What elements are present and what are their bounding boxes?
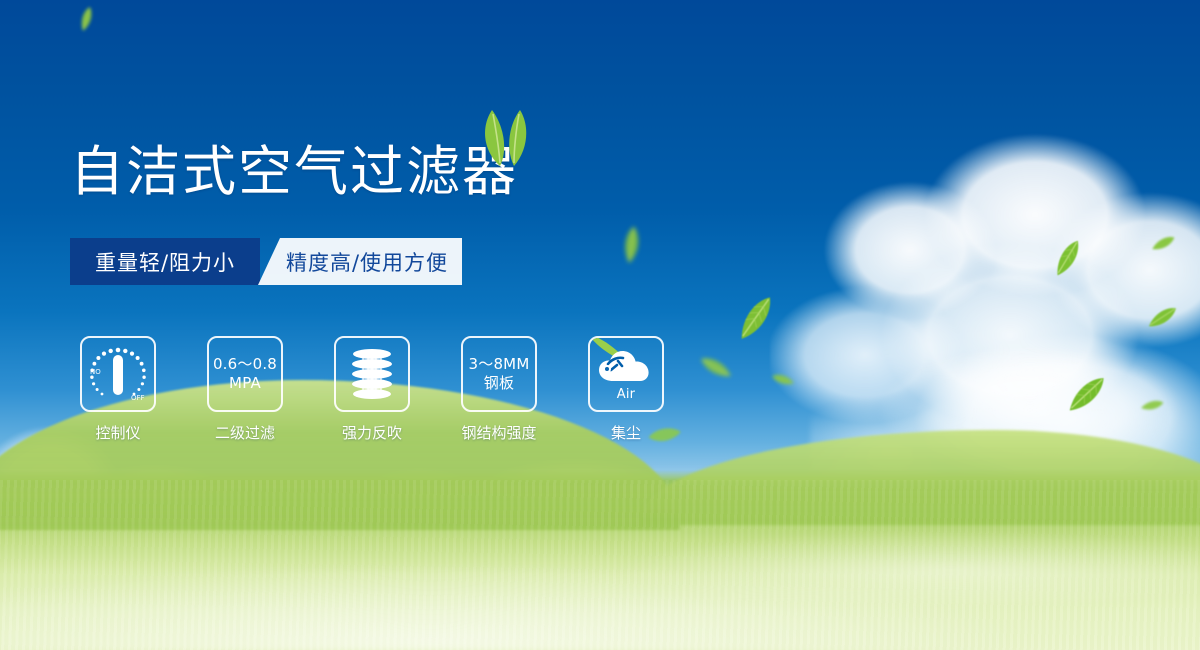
steel-plate-value-icon: 3～8MM 钢板 — [461, 336, 537, 412]
feature-label: 控制仪 — [80, 422, 156, 443]
leaf-icon — [769, 368, 797, 391]
air-cloud-icon: Air — [588, 336, 664, 412]
two-leaf-sprout-icon — [470, 108, 540, 168]
feature-item-steel-strength[interactable]: 3～8MM 钢板 钢结构强度 — [461, 336, 537, 443]
feature-label: 强力反吹 — [334, 422, 410, 443]
cumulus-cloud-right — [770, 120, 1200, 480]
leaf-icon — [1045, 232, 1090, 284]
subtitle-left-text: 重量轻/阻力小 — [70, 238, 260, 285]
subtitle-right-text: 精度高/使用方便 — [258, 238, 462, 285]
title-block: 自洁式空气过滤器 — [70, 140, 518, 204]
feature-label: 钢结构强度 — [447, 422, 551, 443]
leaf-icon — [726, 287, 783, 350]
feature-label: 集尘 — [588, 422, 664, 443]
field-path — [0, 530, 1200, 650]
subtitle-bar: 重量轻/阻力小 精度高/使用方便 — [70, 238, 462, 285]
leaf-icon — [1148, 230, 1178, 256]
leaf-icon — [1142, 300, 1181, 335]
pressure-value-line2: MPA — [229, 374, 261, 393]
feature-item-secondary-filter[interactable]: 0.6～0.8 MPA 二级过滤 — [207, 336, 283, 443]
control-dial-icon: NO OFF — [80, 336, 156, 412]
feature-item-backblow[interactable]: 强力反吹 — [334, 336, 410, 443]
leaf-icon — [1139, 395, 1166, 416]
air-label: Air — [617, 385, 635, 404]
grass-field — [0, 470, 1200, 650]
leaf-icon — [74, 4, 97, 34]
leaf-icon — [695, 349, 737, 387]
pressure-value-icon: 0.6～0.8 MPA — [207, 336, 283, 412]
svg-text:NO: NO — [90, 368, 101, 376]
filter-cartridge-icon — [334, 336, 410, 412]
leaf-icon — [1057, 366, 1114, 422]
steel-value-line1: 3～8MM — [469, 355, 530, 374]
product-banner: 自洁式空气过滤器 重量轻/阻力小 精度高/使用方便 — [0, 0, 1200, 650]
pressure-value-line1: 0.6～0.8 — [213, 355, 277, 374]
svg-text:OFF: OFF — [131, 394, 145, 402]
feature-list: NO OFF 控制仪 0.6～0.8 MPA 二级过滤 — [80, 336, 664, 443]
feature-item-dust-collection[interactable]: Air 集尘 — [588, 336, 664, 443]
feature-label: 二级过滤 — [207, 422, 283, 443]
leaf-icon — [617, 224, 645, 267]
feature-item-control-dial[interactable]: NO OFF 控制仪 — [80, 336, 156, 443]
page-title: 自洁式空气过滤器 — [70, 140, 518, 204]
steel-value-line2: 钢板 — [484, 374, 514, 393]
